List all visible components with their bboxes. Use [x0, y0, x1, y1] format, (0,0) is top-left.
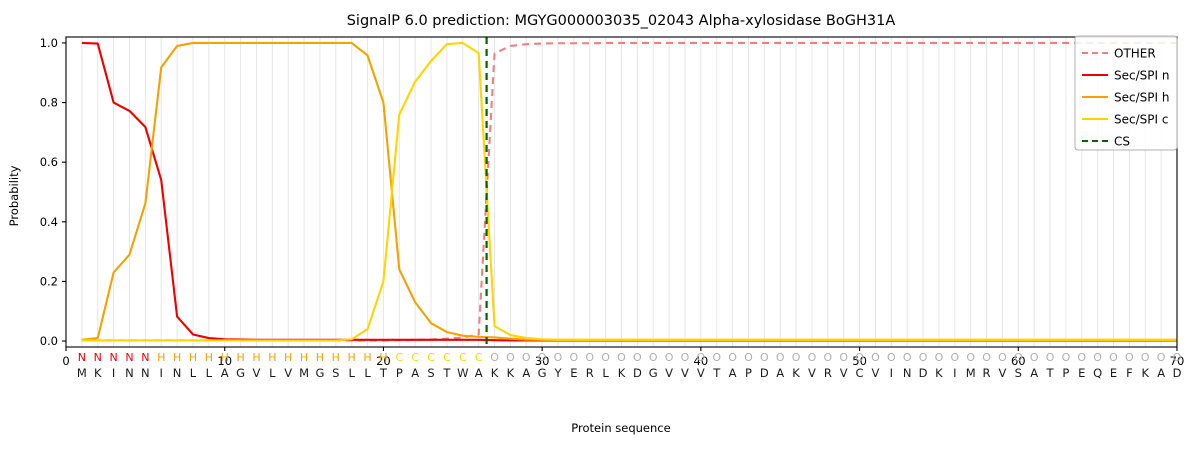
- sequence-letter: V: [872, 366, 880, 380]
- region-letter: O: [871, 351, 880, 364]
- region-letter: O: [744, 351, 753, 364]
- sequence-letter: A: [411, 366, 419, 380]
- sequence-letter: V: [665, 366, 673, 380]
- sequence-letter: A: [729, 366, 737, 380]
- series-line-sec-spi-h: [82, 43, 1177, 340]
- region-letter: O: [522, 351, 531, 364]
- region-letter: H: [284, 351, 292, 364]
- region-letter: O: [601, 351, 610, 364]
- region-letter: O: [712, 351, 721, 364]
- sequence-letter: I: [112, 366, 115, 380]
- region-letter: N: [125, 351, 133, 364]
- region-letter: O: [617, 351, 626, 364]
- region-letter: O: [1157, 351, 1166, 364]
- sequence-letter: L: [269, 366, 276, 380]
- x-tick-label: 0: [62, 354, 69, 368]
- sequence-letter: L: [364, 366, 371, 380]
- region-letter: O: [903, 351, 912, 364]
- chart-canvas: 0102030405060700.00.20.40.60.81.0 NMNKNI…: [0, 0, 1200, 450]
- sequence-letter: P: [396, 366, 403, 380]
- y-tick-label: 0.6: [40, 155, 58, 169]
- region-letter: O: [649, 351, 658, 364]
- series-layer: [82, 43, 1177, 340]
- sequence-letter: C: [856, 366, 864, 380]
- sequence-letter: T: [379, 366, 388, 380]
- region-letter: H: [332, 351, 340, 364]
- sequence-letter: T: [712, 366, 721, 380]
- grid-layer: [82, 37, 1177, 347]
- sequence-letter: V: [681, 366, 689, 380]
- region-letter: O: [490, 351, 499, 364]
- sequence-letter: S: [1015, 366, 1022, 380]
- sequence-letter: K: [1141, 366, 1149, 380]
- sequence-letter: D: [919, 366, 928, 380]
- sequence-letter: R: [586, 366, 594, 380]
- region-letter: C: [427, 351, 435, 364]
- sequence-letter: G: [236, 366, 245, 380]
- sequence-letter: N: [903, 366, 912, 380]
- region-letter: O: [728, 351, 737, 364]
- series-line-other: [82, 43, 1177, 340]
- region-letter: O: [681, 351, 690, 364]
- region-letter: N: [94, 351, 102, 364]
- region-letter: O: [585, 351, 594, 364]
- region-letter: C: [411, 351, 419, 364]
- series-line-sec-spi-n: [82, 43, 1177, 340]
- sequence-letter: K: [618, 366, 626, 380]
- region-letter: O: [1141, 351, 1150, 364]
- sequence-letter: A: [475, 366, 483, 380]
- sequence-letter: Q: [1093, 366, 1102, 380]
- signalp-prediction-figure: 0102030405060700.00.20.40.60.81.0 NMNKNI…: [0, 0, 1200, 450]
- region-letter: O: [506, 351, 515, 364]
- sequence-letter: P: [1062, 366, 1069, 380]
- region-letter: O: [935, 351, 944, 364]
- region-letter: H: [348, 351, 356, 364]
- sequence-letter: S: [427, 366, 434, 380]
- sequence-letter: T: [442, 366, 451, 380]
- sequence-letter: M: [966, 366, 976, 380]
- sequence-letter: D: [633, 366, 642, 380]
- region-letter: O: [1093, 351, 1102, 364]
- region-letter: O: [1077, 351, 1086, 364]
- sequence-letter: V: [808, 366, 816, 380]
- sequence-letter: D: [1173, 366, 1182, 380]
- y-axis-label: Probability: [7, 165, 21, 226]
- sequence-letter: E: [1078, 366, 1085, 380]
- region-letter: O: [855, 351, 864, 364]
- region-letter: O: [1173, 351, 1182, 364]
- region-letter: O: [538, 351, 547, 364]
- region-letter: O: [570, 351, 579, 364]
- legend-label-cs: CS: [1114, 135, 1130, 149]
- region-letter: O: [919, 351, 928, 364]
- sequence-letter: P: [745, 366, 752, 380]
- sequence-letter: V: [253, 366, 261, 380]
- region-letter: O: [1046, 351, 1055, 364]
- y-tick-label: 0.2: [40, 274, 58, 288]
- y-tick-label: 0.8: [40, 96, 58, 110]
- region-letter: H: [157, 351, 165, 364]
- region-letter: O: [982, 351, 991, 364]
- region-letter: H: [173, 351, 181, 364]
- region-letter: H: [316, 351, 324, 364]
- region-letter: H: [221, 351, 229, 364]
- sequence-letter: N: [173, 366, 182, 380]
- sequence-letter: K: [94, 366, 102, 380]
- sequence-letter: K: [792, 366, 800, 380]
- sequence-letter: W: [457, 366, 468, 380]
- sequence-letter: R: [824, 366, 832, 380]
- sequence-letter: K: [491, 366, 499, 380]
- region-letter: H: [252, 351, 260, 364]
- region-letter: O: [1125, 351, 1134, 364]
- region-letter: O: [823, 351, 832, 364]
- sequence-letter: G: [649, 366, 658, 380]
- region-letter: O: [665, 351, 674, 364]
- region-letter: O: [950, 351, 959, 364]
- sequence-letter: I: [953, 366, 956, 380]
- region-letter: O: [633, 351, 642, 364]
- region-letter: H: [363, 351, 371, 364]
- sequence-letter: G: [315, 366, 324, 380]
- region-letter: O: [966, 351, 975, 364]
- region-letter: H: [189, 351, 197, 364]
- x-axis-label: Protein sequence: [571, 421, 670, 435]
- region-letter: H: [379, 351, 387, 364]
- sequence-letter: K: [935, 366, 943, 380]
- sequence-layer: NMNKNINNNNHIHNHLHLHAHGHVHLHVHMHGHSHLHLHT…: [77, 351, 1182, 380]
- legend-label-sec-spi-h: Sec/SPI h: [1114, 91, 1169, 105]
- chart-title: SignalP 6.0 prediction: MGYG000003035_02…: [347, 13, 896, 29]
- legend-label-other: OTHER: [1114, 47, 1156, 61]
- legend-label-sec-spi-c: Sec/SPI c: [1114, 113, 1168, 127]
- sequence-letter: L: [602, 366, 609, 380]
- sequence-letter: E: [1110, 366, 1117, 380]
- tick-layer: 0102030405060700.00.20.40.60.81.0: [40, 36, 1185, 368]
- sequence-letter: G: [538, 366, 547, 380]
- sequence-letter: L: [190, 366, 197, 380]
- region-letter: O: [697, 351, 706, 364]
- sequence-letter: N: [125, 366, 134, 380]
- sequence-letter: V: [840, 366, 848, 380]
- region-letter: O: [887, 351, 896, 364]
- region-letter: O: [554, 351, 563, 364]
- sequence-letter: L: [348, 366, 355, 380]
- region-letter: O: [808, 351, 817, 364]
- region-letter: N: [141, 351, 149, 364]
- sequence-letter: E: [570, 366, 577, 380]
- sequence-letter: S: [332, 366, 339, 380]
- sequence-letter: I: [890, 366, 893, 380]
- sequence-letter: F: [1126, 366, 1133, 380]
- y-tick-label: 1.0: [40, 36, 58, 50]
- region-letter: H: [205, 351, 213, 364]
- region-letter: H: [300, 351, 308, 364]
- sequence-letter: T: [1046, 366, 1055, 380]
- sequence-letter: V: [697, 366, 705, 380]
- region-letter: O: [998, 351, 1007, 364]
- region-letter: H: [236, 351, 244, 364]
- sequence-letter: Y: [553, 366, 562, 380]
- sequence-letter: A: [1030, 366, 1038, 380]
- sequence-letter: V: [998, 366, 1006, 380]
- region-letter: N: [78, 351, 86, 364]
- sequence-letter: A: [522, 366, 530, 380]
- region-letter: C: [395, 351, 403, 364]
- sequence-letter: R: [983, 366, 991, 380]
- region-letter: H: [268, 351, 276, 364]
- region-letter: C: [459, 351, 467, 364]
- region-letter: O: [839, 351, 848, 364]
- sequence-letter: K: [507, 366, 515, 380]
- legend-label-sec-spi-n: Sec/SPI n: [1114, 69, 1169, 83]
- sequence-letter: A: [221, 366, 229, 380]
- region-letter: O: [760, 351, 769, 364]
- sequence-letter: D: [760, 366, 769, 380]
- series-line-sec-spi-c: [82, 43, 1177, 340]
- sequence-letter: M: [299, 366, 309, 380]
- sequence-letter: N: [141, 366, 150, 380]
- region-letter: N: [109, 351, 117, 364]
- sequence-letter: A: [1157, 366, 1165, 380]
- region-letter: C: [475, 351, 483, 364]
- y-tick-label: 0.4: [40, 215, 58, 229]
- sequence-letter: V: [284, 366, 292, 380]
- region-letter: O: [1030, 351, 1039, 364]
- y-tick-label: 0.0: [40, 334, 58, 348]
- sequence-letter: A: [776, 366, 784, 380]
- region-letter: O: [792, 351, 801, 364]
- sequence-letter: I: [160, 366, 163, 380]
- sequence-letter: L: [206, 366, 213, 380]
- region-letter: O: [776, 351, 785, 364]
- region-letter: O: [1062, 351, 1071, 364]
- region-letter: C: [443, 351, 451, 364]
- region-letter: O: [1014, 351, 1023, 364]
- legend-layer: OTHERSec/SPI nSec/SPI hSec/SPI cCS: [1075, 36, 1177, 150]
- region-letter: O: [1109, 351, 1118, 364]
- sequence-letter: M: [77, 366, 87, 380]
